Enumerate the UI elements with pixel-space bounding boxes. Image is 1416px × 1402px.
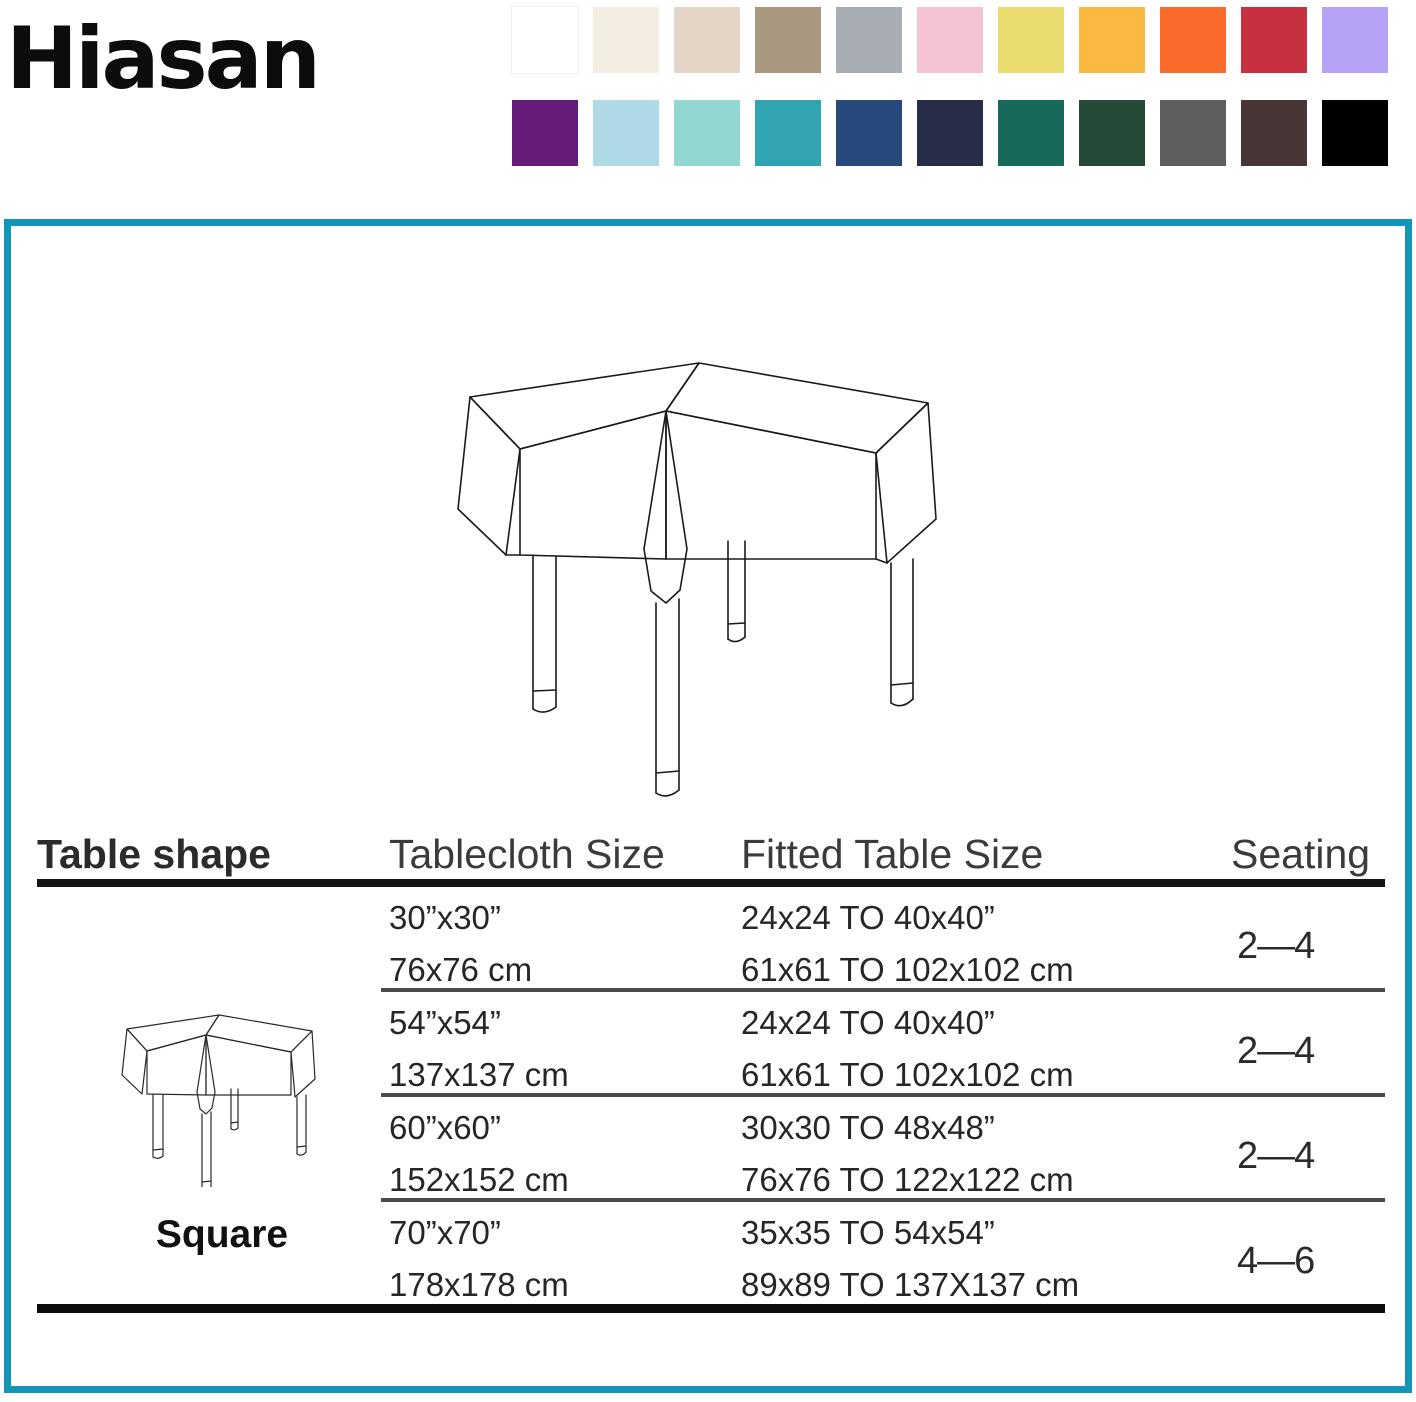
table-row: 60”x60”152x152 cm30x30 TO 48x48”76x76 TO… bbox=[37, 1097, 1385, 1202]
color-swatch-grid bbox=[512, 7, 1412, 167]
color-swatch-gray[interactable] bbox=[836, 7, 902, 73]
cell-tablecloth-size-cm: 152x152 cm bbox=[389, 1163, 569, 1196]
cell-seating: 2—4 bbox=[1237, 1032, 1314, 1070]
column-header-seating: Seating bbox=[1231, 834, 1370, 875]
color-swatch-orange[interactable] bbox=[1160, 7, 1226, 73]
cell-fitted-size-cm: 61x61 TO 102x102 cm bbox=[741, 953, 1074, 986]
color-swatch-dark-gray[interactable] bbox=[1160, 100, 1226, 166]
color-swatch-light-blue[interactable] bbox=[593, 100, 659, 166]
square-table-illustration bbox=[423, 341, 983, 801]
color-swatch-emerald[interactable] bbox=[998, 100, 1064, 166]
column-header-table-shape: Table shape bbox=[37, 834, 271, 875]
color-swatch-denim-blue[interactable] bbox=[836, 100, 902, 166]
product-size-chart-page: Hiasan bbox=[0, 0, 1416, 1402]
color-swatch-aqua[interactable] bbox=[674, 100, 740, 166]
cell-seating: 4—6 bbox=[1237, 1242, 1314, 1280]
column-header-fitted-table-size: Fitted Table Size bbox=[741, 834, 1043, 875]
cell-tablecloth-size-cm: 137x137 cm bbox=[389, 1058, 569, 1091]
size-table-body: Square 30”x30”76x76 cm24x24 TO 40x40”61x… bbox=[37, 887, 1385, 1307]
color-swatch-ivory[interactable] bbox=[593, 7, 659, 73]
color-swatch-dark-brown[interactable] bbox=[1241, 100, 1307, 166]
cell-tablecloth-size-inches: 30”x30” bbox=[389, 901, 501, 934]
color-swatch-teal[interactable] bbox=[755, 100, 821, 166]
size-table: Table shape Tablecloth Size Fitted Table… bbox=[37, 811, 1385, 1307]
color-swatch-yellow[interactable] bbox=[998, 7, 1064, 73]
color-swatch-purple[interactable] bbox=[512, 100, 578, 166]
color-swatch-pink[interactable] bbox=[917, 7, 983, 73]
color-swatch-row-2 bbox=[512, 100, 1412, 166]
color-swatch-taupe[interactable] bbox=[755, 7, 821, 73]
cell-tablecloth-size-inches: 70”x70” bbox=[389, 1216, 501, 1249]
cell-fitted-size-inches: 24x24 TO 40x40” bbox=[741, 901, 995, 934]
color-swatch-beige[interactable] bbox=[674, 7, 740, 73]
brand-banner: Hiasan bbox=[0, 0, 1416, 200]
cell-fitted-size-inches: 30x30 TO 48x48” bbox=[741, 1111, 995, 1144]
cell-tablecloth-size-inches: 60”x60” bbox=[389, 1111, 501, 1144]
cell-seating: 2—4 bbox=[1237, 1137, 1314, 1175]
column-header-tablecloth-size: Tablecloth Size bbox=[389, 834, 665, 875]
color-swatch-forest-green[interactable] bbox=[1079, 100, 1145, 166]
color-swatch-amber[interactable] bbox=[1079, 7, 1145, 73]
color-swatch-navy[interactable] bbox=[917, 100, 983, 166]
cell-fitted-size-inches: 24x24 TO 40x40” bbox=[741, 1006, 995, 1039]
cell-tablecloth-size-cm: 76x76 cm bbox=[389, 953, 532, 986]
cell-seating: 2—4 bbox=[1237, 927, 1314, 965]
brand-logo: Hiasan bbox=[6, 16, 318, 102]
color-swatch-row-1 bbox=[512, 7, 1412, 73]
color-swatch-red[interactable] bbox=[1241, 7, 1307, 73]
size-table-header-row: Table shape Tablecloth Size Fitted Table… bbox=[37, 811, 1385, 877]
row-divider bbox=[37, 1304, 1385, 1313]
color-swatch-black[interactable] bbox=[1322, 100, 1388, 166]
cell-fitted-size-cm: 76x76 TO 122x122 cm bbox=[741, 1163, 1074, 1196]
size-chart-panel: Table shape Tablecloth Size Fitted Table… bbox=[4, 219, 1412, 1393]
color-swatch-lavender[interactable] bbox=[1322, 7, 1388, 73]
table-row: 30”x30”76x76 cm24x24 TO 40x40”61x61 TO 1… bbox=[37, 887, 1385, 992]
cell-tablecloth-size-inches: 54”x54” bbox=[389, 1006, 501, 1039]
cell-tablecloth-size-cm: 178x178 cm bbox=[389, 1268, 569, 1301]
color-swatch-white[interactable] bbox=[512, 7, 578, 73]
cell-fitted-size-cm: 61x61 TO 102x102 cm bbox=[741, 1058, 1074, 1091]
table-row: 54”x54”137x137 cm24x24 TO 40x40”61x61 TO… bbox=[37, 992, 1385, 1097]
cell-fitted-size-inches: 35x35 TO 54x54” bbox=[741, 1216, 995, 1249]
table-row: 70”x70”178x178 cm35x35 TO 54x54”89x89 TO… bbox=[37, 1202, 1385, 1307]
cell-fitted-size-cm: 89x89 TO 137X137 cm bbox=[741, 1268, 1079, 1301]
header-divider bbox=[37, 879, 1385, 887]
